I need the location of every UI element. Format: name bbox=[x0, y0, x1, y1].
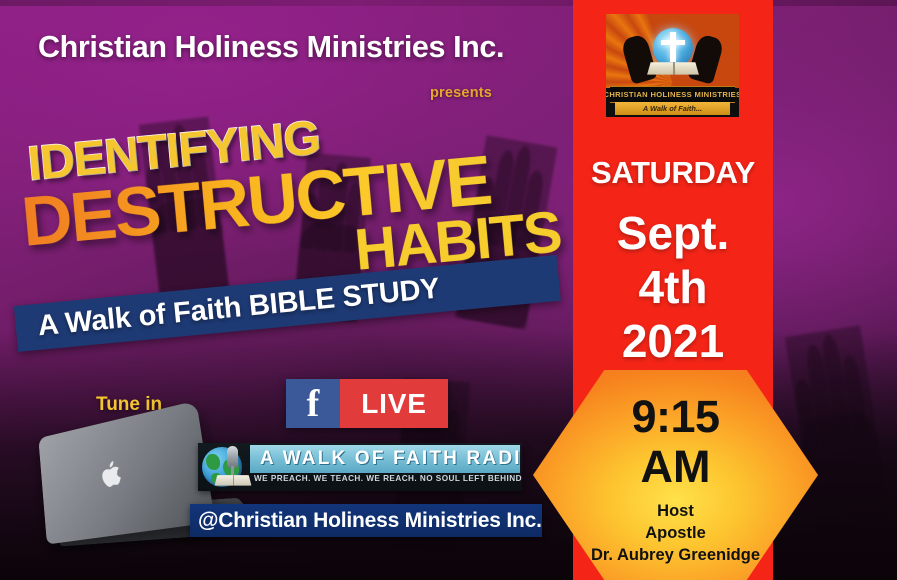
microphone-icon bbox=[227, 446, 238, 468]
logo-tagline-band: A Walk of Faith... bbox=[615, 102, 730, 115]
social-handle-bar[interactable]: @Christian Holiness Ministries Inc. bbox=[190, 504, 542, 537]
ministry-logo: CHRISTIAN HOLINESS MINISTRIES A Walk of … bbox=[606, 14, 739, 117]
live-label-box: LIVE bbox=[340, 379, 448, 428]
event-month: Sept. bbox=[573, 210, 773, 256]
social-handle-text: @Christian Holiness Ministries Inc. bbox=[198, 509, 542, 533]
radio-station-logo[interactable]: A WALK OF FAITH RADIO WE PREACH. WE TEAC… bbox=[198, 443, 522, 491]
event-flyer: Christian Holiness Ministries Inc. prese… bbox=[0, 0, 897, 580]
facebook-icon: f bbox=[286, 379, 340, 428]
logo-bible-icon bbox=[647, 62, 699, 74]
facebook-live-badge[interactable]: f LIVE bbox=[286, 379, 448, 428]
headline-group: IDENTIFYING DESTRUCTIVE HABITS bbox=[0, 0, 580, 300]
host-role-label: Host bbox=[533, 501, 818, 523]
cross-icon bbox=[670, 32, 676, 62]
facebook-f-glyph: f bbox=[307, 385, 320, 423]
logo-ministry-name: CHRISTIAN HOLINESS MINISTRIES bbox=[606, 90, 739, 99]
event-time-meridiem: AM bbox=[533, 443, 818, 490]
event-day: 4th bbox=[573, 264, 773, 310]
radio-station-name: A WALK OF FAITH RADIO bbox=[260, 446, 518, 472]
event-year: 2021 bbox=[573, 318, 773, 364]
open-book-icon bbox=[215, 475, 252, 485]
radio-station-tagline: WE PREACH. WE TEACH. WE REACH. NO SOUL L… bbox=[254, 474, 518, 483]
logo-tagline: A Walk of Faith... bbox=[643, 104, 702, 113]
laptop-lid bbox=[38, 401, 215, 545]
logo-name-band: CHRISTIAN HOLINESS MINISTRIES bbox=[610, 86, 735, 103]
event-weekday: SATURDAY bbox=[573, 155, 773, 191]
apple-logo-icon bbox=[98, 456, 127, 492]
live-label: LIVE bbox=[361, 388, 426, 420]
